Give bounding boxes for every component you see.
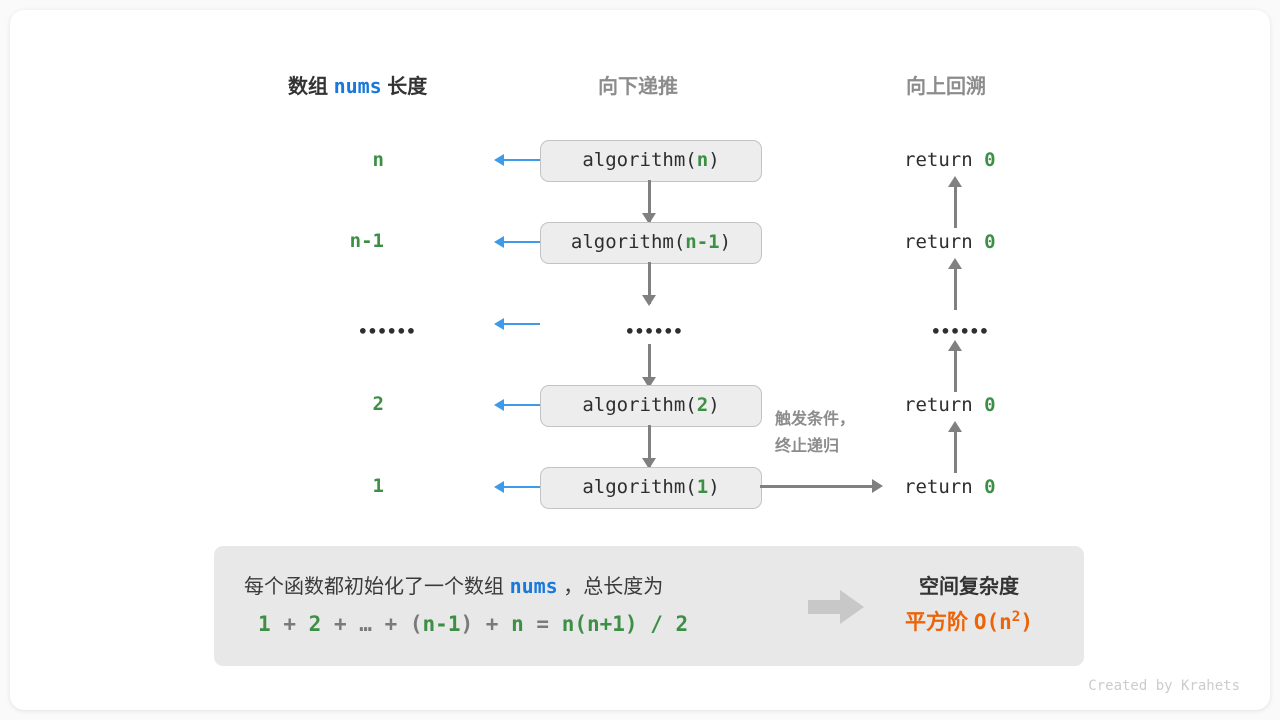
- formula-term-2: 2: [309, 612, 322, 636]
- trigger-note-line-2: 终止递归: [775, 433, 855, 460]
- summary-keyword: nums: [510, 574, 558, 598]
- complexity-bigo: O(n2): [974, 610, 1033, 634]
- formula-term-5: n: [511, 612, 524, 636]
- formula-paren-open: (: [410, 612, 423, 636]
- size-label-row-4: 2: [310, 393, 384, 415]
- return-row-4: return 0: [904, 394, 996, 416]
- return-text-row-1: return: [904, 149, 973, 171]
- up-arrow-3-2: [948, 258, 962, 269]
- code-box-row-1[interactable]: algorithm(n): [540, 140, 762, 182]
- formula-op-4: +: [486, 612, 499, 636]
- formula-term-7: 2: [676, 612, 689, 636]
- up-arrow-2-1: [948, 176, 962, 187]
- formula-equals: =: [536, 612, 549, 636]
- code-suffix-row-1: ): [708, 149, 719, 171]
- formula-op-2: +: [334, 612, 347, 636]
- summary-sentence: 每个函数都初始化了一个数组 nums ，总长度为: [244, 570, 663, 599]
- return-value-row-4: 0: [984, 394, 995, 416]
- blue-arrowhead-row-2: [494, 236, 504, 248]
- blue-arrowhead-row-3: [494, 318, 504, 330]
- up-line-2-1: [954, 186, 957, 228]
- return-row-5: return 0: [904, 476, 996, 498]
- complexity-bigo-text: O(n: [974, 610, 1012, 634]
- return-row-2: return 0: [904, 231, 996, 253]
- right-block-arrow-icon: [808, 590, 864, 624]
- return-text-row-4: return: [904, 394, 973, 416]
- code-arg-row-5: 1: [697, 476, 708, 498]
- formula-op-3: +: [385, 612, 398, 636]
- code-arg-row-4: 2: [697, 394, 708, 416]
- code-box-row-5[interactable]: algorithm(1): [540, 467, 762, 509]
- code-box-row-4[interactable]: algorithm(2): [540, 385, 762, 427]
- blue-arrowhead-row-5: [494, 481, 504, 493]
- return-text-row-5: return: [904, 476, 973, 498]
- credit-text: Created by Krahets: [1088, 678, 1240, 694]
- code-box-row-2[interactable]: algorithm(n-1): [540, 222, 762, 264]
- code-arg-row-2: n-1: [685, 231, 719, 253]
- header-left-suffix: 长度: [387, 76, 427, 98]
- code-suffix-row-2: ): [720, 231, 731, 253]
- code-arg-row-1: n: [697, 149, 708, 171]
- up-arrow-4-3: [948, 340, 962, 351]
- code-prefix-row-1: algorithm(: [582, 149, 696, 171]
- return-text-row-2: return: [904, 231, 973, 253]
- summary-text-before: 每个函数都初始化了一个数组: [244, 576, 504, 598]
- up-arrow-5-4: [948, 421, 962, 432]
- complexity-bigo-close: ): [1020, 610, 1033, 634]
- return-value-row-1: 0: [984, 149, 995, 171]
- header-array-length: 数组 nums 长度: [288, 70, 427, 99]
- formula-term-4: n-1: [423, 612, 461, 636]
- space-complexity-title: 空间复杂度: [880, 570, 1058, 599]
- base-case-arrowhead: [872, 479, 883, 493]
- formula-ellipsis: …: [359, 612, 372, 636]
- formula-op-5: /: [650, 612, 663, 636]
- up-line-4-3: [954, 350, 957, 392]
- complexity-label: 平方阶: [905, 611, 968, 634]
- blue-line-row-3: [504, 323, 540, 325]
- code-suffix-row-4: ): [708, 394, 719, 416]
- space-complexity-result: 空间复杂度 平方阶 O(n2): [880, 570, 1058, 640]
- formula-paren-close: ): [460, 612, 473, 636]
- formula-term-1: 1: [258, 612, 271, 636]
- base-case-line: [760, 485, 874, 488]
- up-line-3-2: [954, 268, 957, 310]
- blue-arrowhead-row-1: [494, 154, 504, 166]
- header-backtrack-up: 向上回溯: [906, 70, 986, 99]
- space-complexity-value: 平方阶 O(n2): [880, 606, 1058, 636]
- code-prefix-row-4: algorithm(: [582, 394, 696, 416]
- trigger-condition-note: 触发条件， 终止递归: [775, 406, 855, 460]
- header-left-prefix: 数组: [288, 76, 328, 98]
- code-suffix-row-5: ): [708, 476, 719, 498]
- return-value-row-5: 0: [984, 476, 995, 498]
- return-row-1: return 0: [904, 149, 996, 171]
- formula-op-1: +: [283, 612, 296, 636]
- header-left-keyword: nums: [334, 74, 382, 98]
- down-arrow-2-3: [642, 295, 656, 306]
- header-recurse-down: 向下递推: [598, 70, 678, 99]
- ellipsis-left: ••••••: [358, 322, 416, 341]
- ellipsis-middle: ••••••: [625, 322, 683, 341]
- return-value-row-2: 0: [984, 231, 995, 253]
- blue-arrowhead-row-4: [494, 399, 504, 411]
- ellipsis-right: ••••••: [931, 322, 989, 341]
- up-line-5-4: [954, 431, 957, 473]
- diagram-card: 数组 nums 长度 向下递推 向上回溯 n algorithm(n) retu…: [10, 10, 1270, 710]
- size-label-row-5: 1: [310, 475, 384, 497]
- summary-text-after: ，总长度为: [563, 576, 663, 598]
- size-label-row-1: n: [310, 149, 384, 171]
- trigger-note-line-1: 触发条件，: [775, 406, 855, 433]
- summary-formula: 1 + 2 + … + (n-1) + n = n(n+1) / 2: [258, 612, 688, 636]
- formula-term-6: n(n+1): [562, 612, 638, 636]
- code-prefix-row-5: algorithm(: [582, 476, 696, 498]
- size-label-row-2: n-1: [310, 230, 384, 252]
- code-prefix-row-2: algorithm(: [571, 231, 685, 253]
